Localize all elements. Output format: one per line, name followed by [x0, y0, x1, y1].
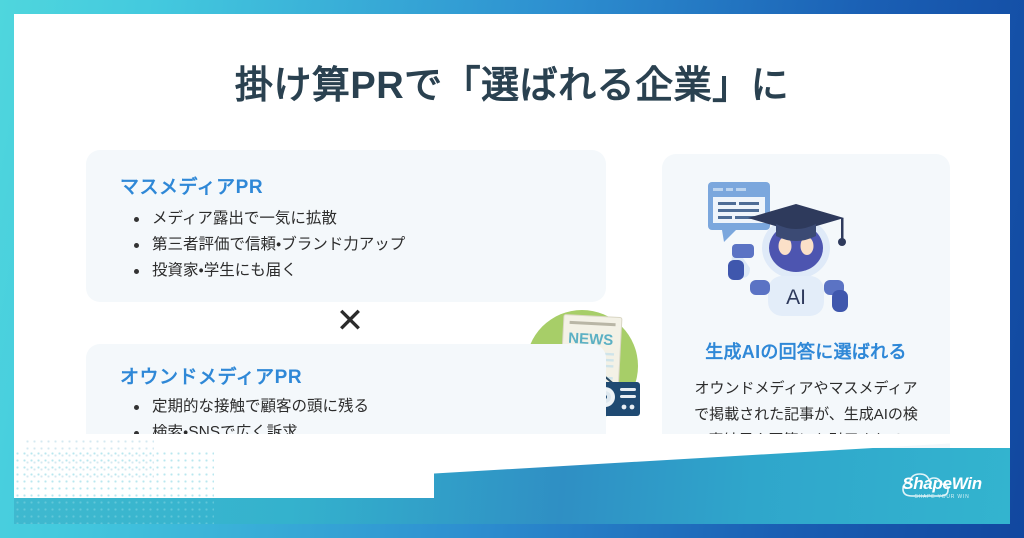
panel-heading-generative-ai: 生成AIの回答に選ばれる: [662, 338, 950, 364]
card-heading-owned-media: オウンドメディアPR: [120, 362, 302, 389]
shapewin-logo: ShapeWin SHAPE YOUR WIN: [892, 470, 992, 510]
list-item: メディア露出で一気に拡散: [132, 206, 405, 232]
card-mass-media-pr: マスメディアPR メディア露出で一気に拡散 第三者評価で信頼・ブランド力アップ …: [86, 150, 606, 302]
logo-subtext: SHAPE YOUR WIN: [892, 494, 992, 500]
ai-robot-svg: AI: [702, 176, 872, 316]
dot-pattern-decoration-light: [24, 438, 154, 480]
panel-body-line: オウンドメディアやマスメディア: [676, 376, 936, 402]
ai-robot-illustration: AI: [702, 176, 872, 316]
panel-body-line: で掲載された記事が、生成AIの検: [676, 402, 936, 428]
page-title: 掛け算PRで「選ばれる企業」に: [14, 54, 1010, 109]
card-heading-mass-media: マスメディアPR: [120, 172, 263, 199]
slide-canvas: 掛け算PRで「選ばれる企業」に マスメディアPR メディア露出で一気に拡散 第三…: [14, 14, 1010, 524]
logo-text: ShapeWin: [892, 474, 992, 494]
multiply-icon: ✕: [332, 301, 368, 341]
robot-ai-label: AI: [786, 286, 806, 309]
panel-generative-ai: AI 生成AIの回答に選ばれる オウンドメディアやマスメディア で掲載された記事…: [662, 154, 950, 476]
slide-root: 掛け算PRで「選ばれる企業」に マスメディアPR メディア露出で一気に拡散 第三…: [0, 0, 1024, 538]
list-item: 定期的な接触で顧客の頭に残る: [132, 394, 369, 420]
bullet-list-mass-media: メディア露出で一気に拡散 第三者評価で信頼・ブランド力アップ 投資家・学生にも届…: [132, 206, 405, 284]
list-item: 第三者評価で信頼・ブランド力アップ: [132, 232, 405, 258]
list-item: 投資家・学生にも届く: [132, 258, 405, 284]
